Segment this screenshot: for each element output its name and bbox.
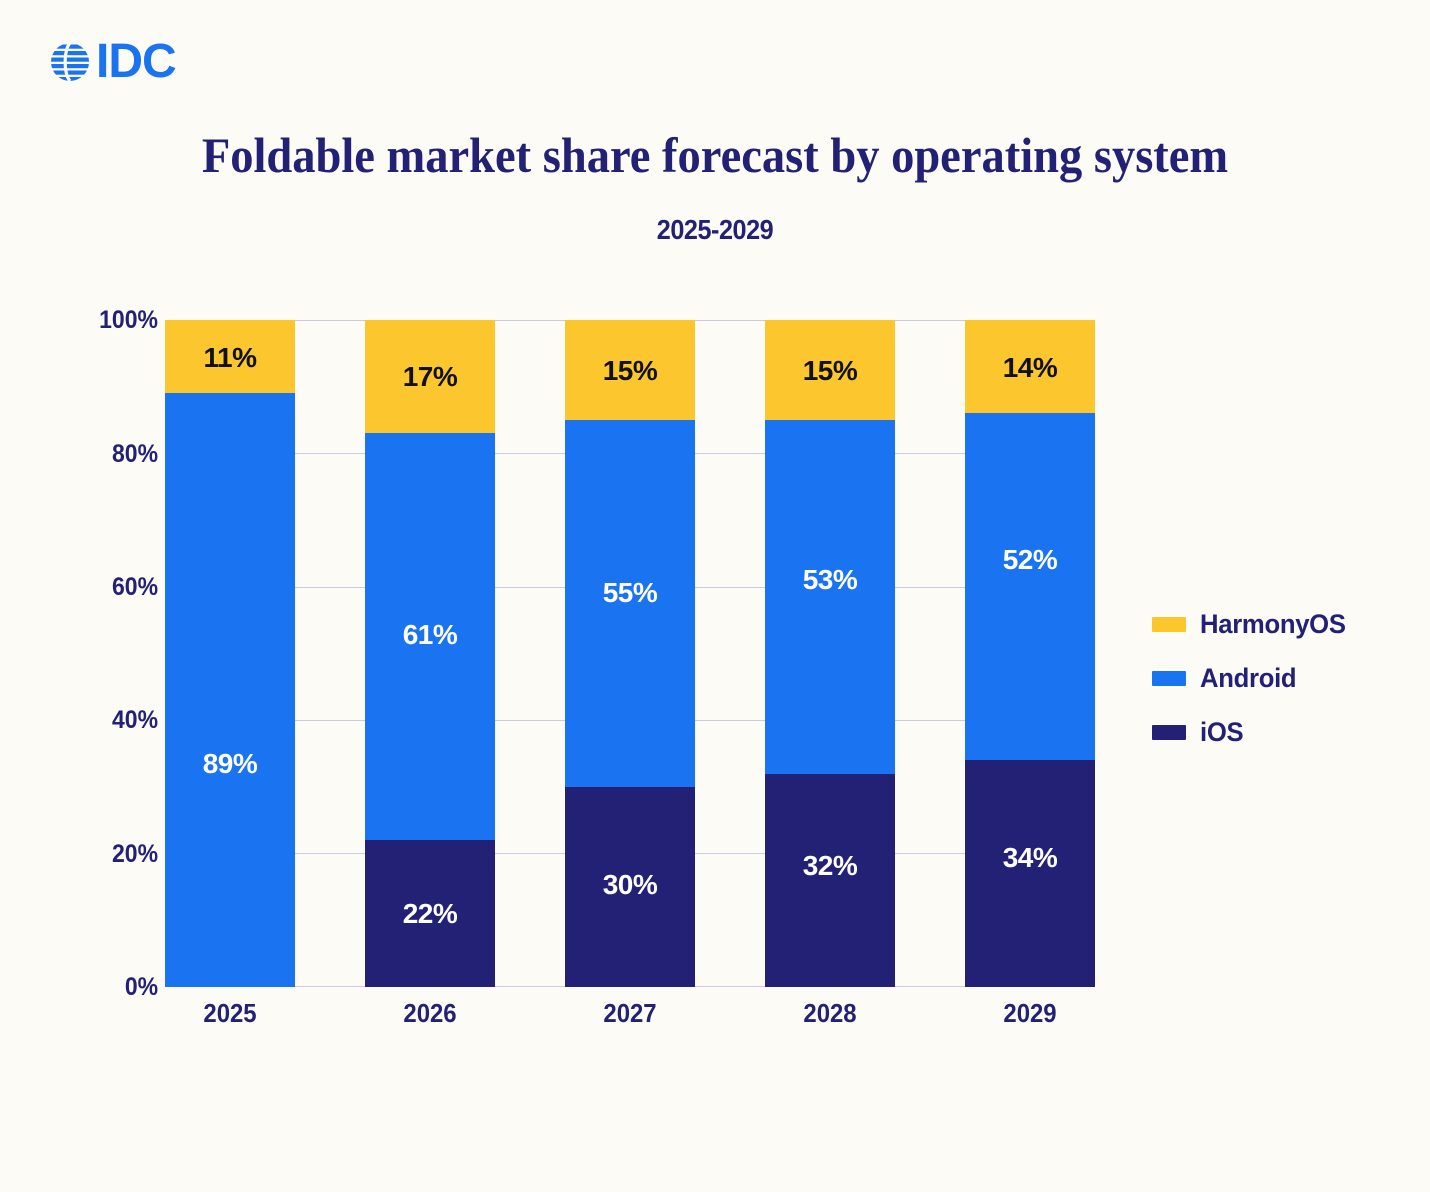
bar-label-android-2027: 55% [565, 577, 695, 609]
bar-segment-android-2028[interactable]: 53% [765, 420, 895, 774]
bar-label-ios-2028: 32% [765, 850, 895, 882]
bar-segment-android-2025[interactable]: 89% [165, 393, 295, 987]
legend-swatch-android [1152, 671, 1186, 686]
legend-label-android: Android [1200, 663, 1296, 694]
bar-segment-harmonyos-2027[interactable]: 15% [565, 320, 695, 420]
x-tick-label-2028: 2028 [770, 998, 890, 1029]
y-tick-label-0: 0% [125, 973, 158, 1002]
bar-label-harmonyos-2025: 11% [165, 342, 295, 374]
y-tick-label-60: 60% [112, 573, 158, 602]
bar-segment-ios-2029[interactable]: 34% [965, 760, 1095, 987]
legend-item-ios[interactable]: iOS [1152, 705, 1353, 759]
bar-2025[interactable]: 89% 11% [165, 320, 295, 987]
globe-icon [48, 40, 92, 84]
bar-segment-harmonyos-2028[interactable]: 15% [765, 320, 895, 420]
bar-segment-ios-2028[interactable]: 32% [765, 774, 895, 987]
legend-label-harmonyos: HarmonyOS [1200, 609, 1346, 640]
idc-logo: IDC [48, 38, 176, 86]
idc-wordmark: IDC [96, 38, 176, 86]
bar-segment-harmonyos-2026[interactable]: 17% [365, 320, 495, 433]
bar-segment-ios-2027[interactable]: 30% [565, 787, 695, 987]
bar-2028[interactable]: 32% 53% 15% [765, 320, 895, 987]
legend-swatch-ios [1152, 725, 1186, 740]
x-tick-label-2026: 2026 [370, 998, 490, 1029]
bar-label-ios-2027: 30% [565, 869, 695, 901]
legend-item-android[interactable]: Android [1152, 651, 1353, 705]
y-tick-label-40: 40% [112, 706, 158, 735]
bar-label-harmonyos-2026: 17% [365, 361, 495, 393]
page-subtitle: 2025-2029 [72, 214, 1359, 246]
bar-label-ios-2029: 34% [965, 842, 1095, 874]
y-tick-label-20: 20% [112, 840, 158, 869]
page-title: Foldable market share forecast by operat… [50, 126, 1380, 184]
bar-2029[interactable]: 34% 52% 14% [965, 320, 1095, 987]
bar-segment-harmonyos-2025[interactable]: 11% [165, 320, 295, 393]
bar-segment-ios-2026[interactable]: 22% [365, 840, 495, 987]
chart-legend: HarmonyOS Android iOS [1152, 597, 1353, 759]
x-tick-label-2027: 2027 [570, 998, 690, 1029]
x-tick-label-2025: 2025 [170, 998, 290, 1029]
legend-item-harmonyos[interactable]: HarmonyOS [1152, 597, 1353, 651]
bar-segment-harmonyos-2029[interactable]: 14% [965, 320, 1095, 413]
bar-2026[interactable]: 22% 61% 17% [365, 320, 495, 987]
bar-label-android-2025: 89% [165, 748, 295, 780]
bar-label-harmonyos-2029: 14% [965, 352, 1095, 384]
bar-label-harmonyos-2028: 15% [765, 355, 895, 387]
bar-segment-android-2029[interactable]: 52% [965, 413, 1095, 760]
y-tick-label-80: 80% [112, 440, 158, 469]
bar-label-android-2028: 53% [765, 564, 895, 596]
bar-segment-android-2027[interactable]: 55% [565, 420, 695, 787]
y-tick-label-100: 100% [99, 306, 158, 335]
bar-label-android-2026: 61% [365, 619, 495, 651]
bar-segment-android-2026[interactable]: 61% [365, 433, 495, 840]
bar-label-android-2029: 52% [965, 544, 1095, 576]
chart-plot-area: 89% 11% 22% 61% 17% 30% 55% 15% 32% [165, 320, 1095, 987]
bar-label-harmonyos-2027: 15% [565, 355, 695, 387]
legend-swatch-harmonyos [1152, 617, 1186, 632]
legend-label-ios: iOS [1200, 717, 1243, 748]
bar-2027[interactable]: 30% 55% 15% [565, 320, 695, 987]
bar-label-ios-2026: 22% [365, 898, 495, 930]
x-tick-label-2029: 2029 [970, 998, 1090, 1029]
